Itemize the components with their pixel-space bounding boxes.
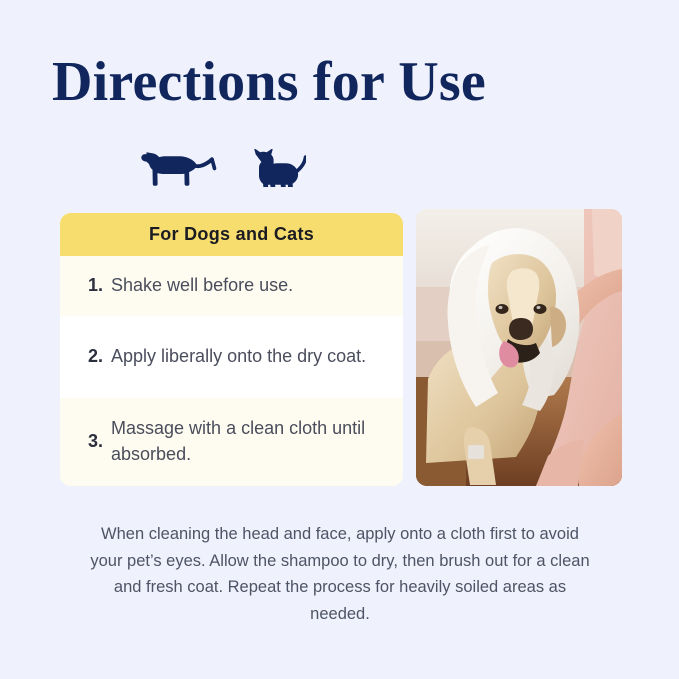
list-item: 1. Shake well before use. (60, 256, 403, 316)
footnote-text: When cleaning the head and face, apply o… (86, 521, 594, 628)
dog-silhouette-icon (140, 145, 222, 187)
cat-silhouette-icon (244, 149, 306, 187)
step-number: 2. (88, 344, 103, 370)
card-header: For Dogs and Cats (60, 213, 403, 256)
list-item: 3. Massage with a clean cloth until abso… (60, 398, 403, 486)
dog-being-towel-dried-photo (416, 209, 622, 486)
step-text: Apply liberally onto the dry coat. (111, 344, 366, 370)
step-text: Massage with a clean cloth until absorbe… (111, 416, 381, 467)
step-text: Shake well before use. (111, 273, 293, 299)
step-number: 3. (88, 429, 103, 455)
instructions-card: For Dogs and Cats 1. Shake well before u… (60, 213, 403, 486)
list-item: 2. Apply liberally onto the dry coat. (60, 316, 403, 398)
step-number: 1. (88, 273, 103, 299)
page-title: Directions for Use (52, 52, 486, 112)
animal-icon-row (140, 145, 306, 187)
